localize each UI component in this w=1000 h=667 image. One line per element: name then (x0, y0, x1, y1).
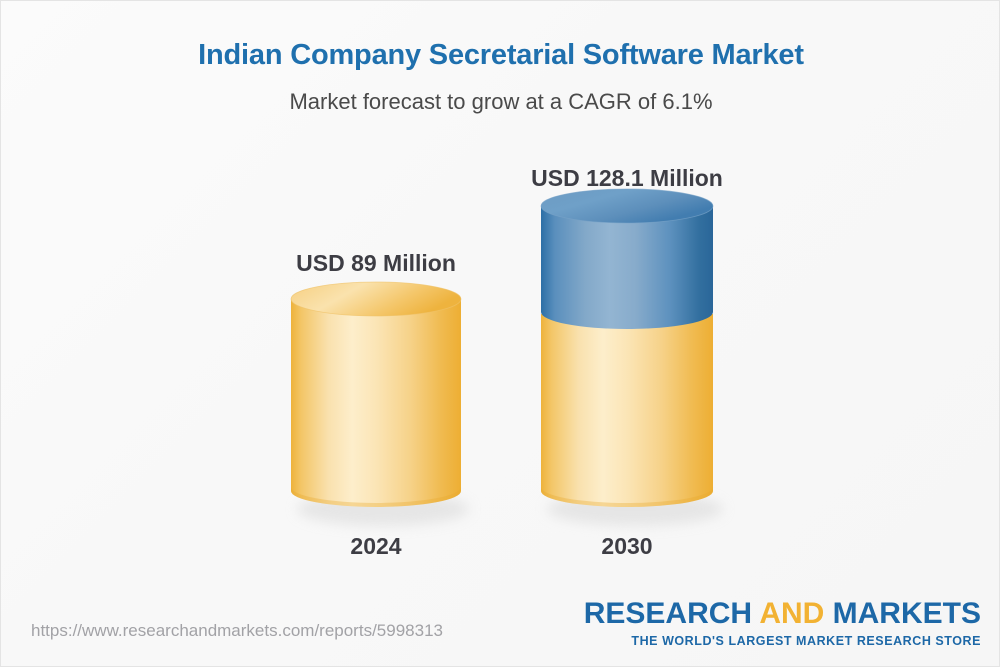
cylinder-bar-chart: USD 89 Million USD 128.1 Million 2024 20… (1, 1, 1000, 601)
logo-word-markets: MARKETS (833, 597, 981, 630)
infographic-canvas: Indian Company Secretarial Software Mark… (0, 0, 1000, 667)
value-label-2030: USD 128.1 Million (447, 165, 807, 192)
research-and-markets-logo[interactable]: RESEARCH AND MARKETS THE WORLD'S LARGEST… (584, 599, 981, 648)
report-url[interactable]: https://www.researchandmarkets.com/repor… (31, 621, 443, 641)
logo-wordmark: RESEARCH AND MARKETS (584, 599, 981, 629)
logo-word-and: AND (759, 597, 824, 630)
value-label-2024: USD 89 Million (196, 250, 556, 277)
cylinder-2030 (541, 189, 723, 526)
cylinder-2024 (291, 282, 469, 526)
logo-word-research: RESEARCH (584, 597, 752, 630)
cylinder-graphics (1, 1, 1000, 601)
logo-tagline: THE WORLD'S LARGEST MARKET RESEARCH STOR… (584, 634, 981, 648)
category-label-2024: 2024 (276, 533, 476, 560)
category-label-2030: 2030 (527, 533, 727, 560)
